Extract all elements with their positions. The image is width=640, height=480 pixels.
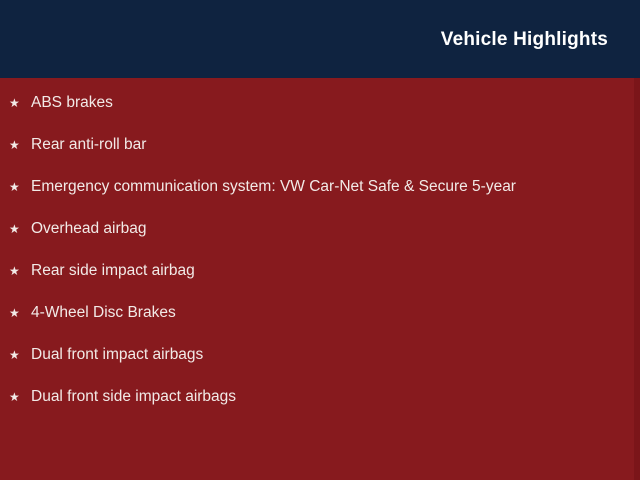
list-item: ★ Rear anti-roll bar [8, 134, 616, 156]
star-bullet-icon: ★ [8, 260, 31, 282]
star-bullet-icon: ★ [8, 134, 31, 156]
list-item: ★ 4-Wheel Disc Brakes [8, 302, 616, 324]
list-item: ★ Dual front side impact airbags [8, 386, 616, 408]
list-item-label: Emergency communication system: VW Car-N… [31, 176, 616, 198]
vehicle-highlights-slide: Vehicle Highlights ★ ABS brakes ★ Rear a… [0, 0, 640, 480]
vehicle-highlights-list: ★ ABS brakes ★ Rear anti-roll bar ★ Emer… [8, 92, 616, 408]
list-item: ★ ABS brakes [8, 92, 616, 114]
list-item: ★ Overhead airbag [8, 218, 616, 240]
list-item-label: Overhead airbag [31, 218, 616, 240]
list-item-label: Dual front side impact airbags [31, 386, 616, 408]
page-title: Vehicle Highlights [441, 30, 608, 49]
list-item-label: Rear anti-roll bar [31, 134, 616, 156]
list-item: ★ Dual front impact airbags [8, 344, 616, 366]
slide-header: Vehicle Highlights [0, 0, 640, 78]
list-item-label: 4-Wheel Disc Brakes [31, 302, 616, 324]
list-item: ★ Rear side impact airbag [8, 260, 616, 282]
highlights-content: ★ ABS brakes ★ Rear anti-roll bar ★ Emer… [0, 78, 640, 480]
list-item-label: ABS brakes [31, 92, 616, 114]
star-bullet-icon: ★ [8, 92, 31, 114]
list-item-label: Rear side impact airbag [31, 260, 616, 282]
list-item: ★ Emergency communication system: VW Car… [8, 176, 616, 198]
star-bullet-icon: ★ [8, 344, 31, 366]
star-bullet-icon: ★ [8, 302, 31, 324]
list-item-label: Dual front impact airbags [31, 344, 616, 366]
star-bullet-icon: ★ [8, 176, 31, 198]
star-bullet-icon: ★ [8, 386, 31, 408]
star-bullet-icon: ★ [8, 218, 31, 240]
